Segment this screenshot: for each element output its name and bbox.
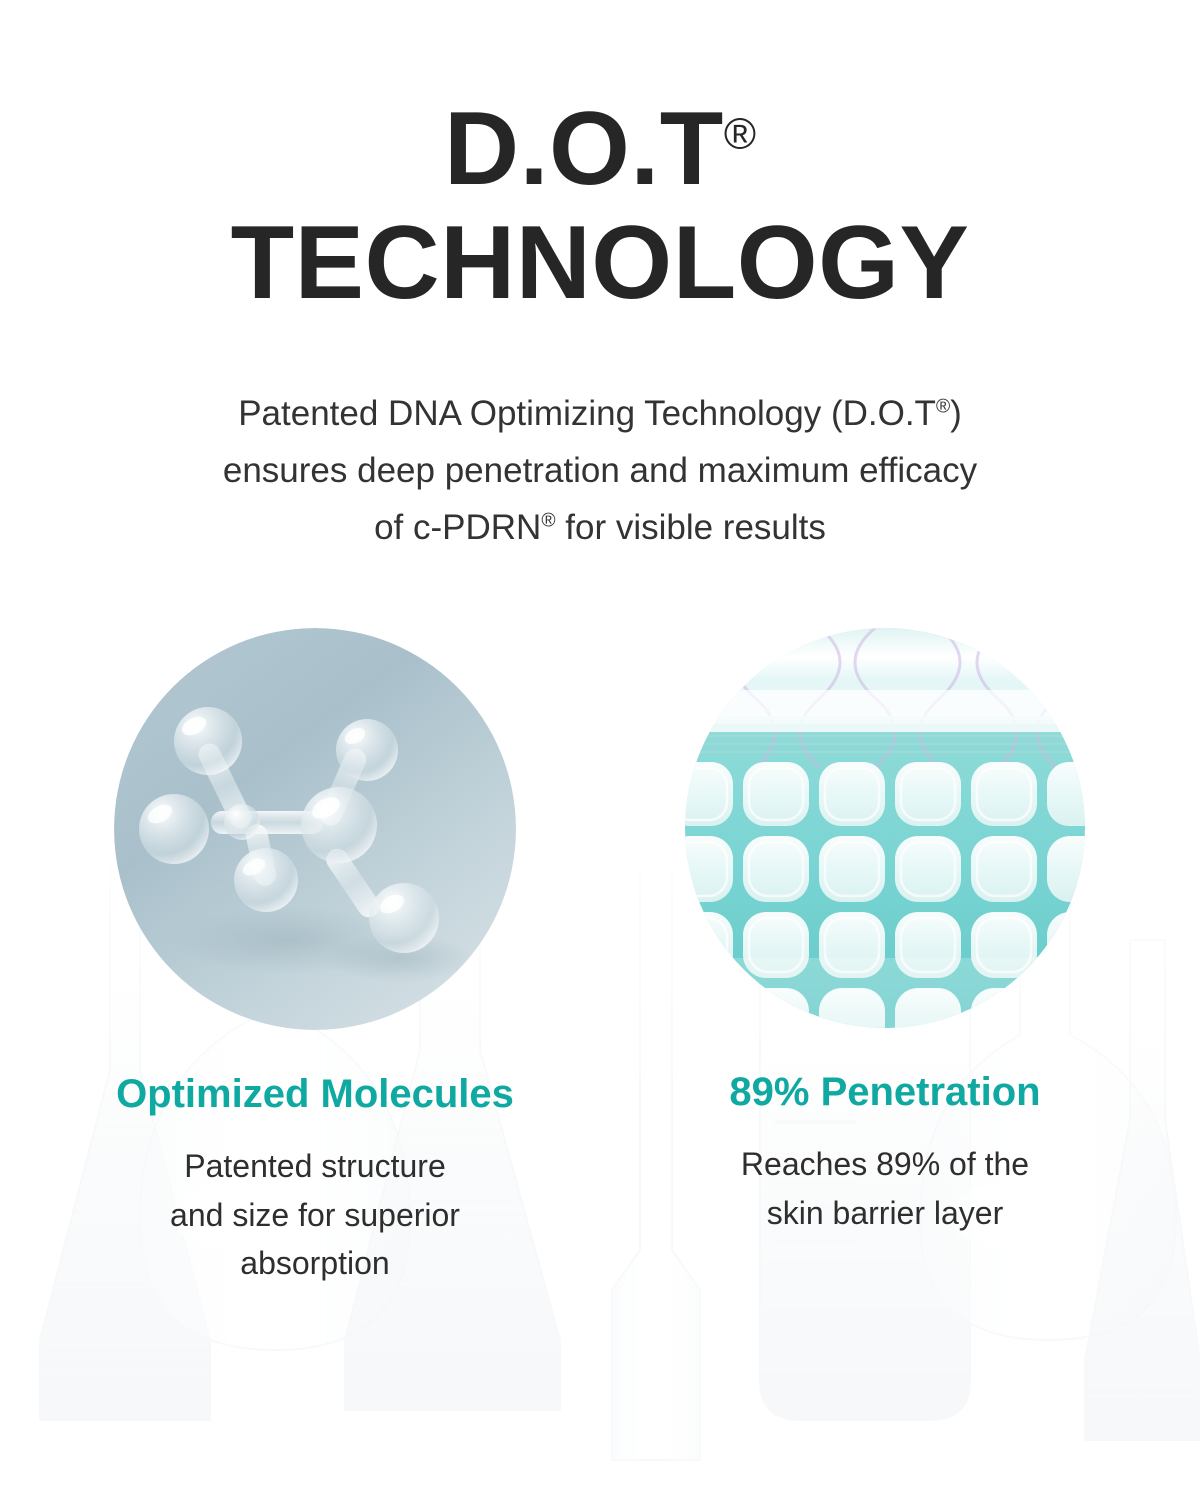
feature-title-89-percent-penetration: 89% Penetration	[729, 1070, 1040, 1114]
subtitle-line-3: of c-PDRN® for visible results	[0, 500, 1200, 557]
headline-dot-text: D.O.T	[444, 91, 724, 207]
feature-desc-line: and size for superior	[170, 1191, 460, 1240]
headline-line-1: D.O.T®	[0, 96, 1200, 202]
feature-description-optimized-molecules: Patented structure and size for superior…	[170, 1142, 460, 1288]
feature-title-optimized-molecules: Optimized Molecules	[116, 1072, 514, 1116]
subtitle: Patented DNA Optimizing Technology (D.O.…	[0, 386, 1200, 556]
feature-optimized-molecules: Optimized Molecules Patented structure a…	[30, 628, 600, 1288]
feature-list: Optimized Molecules Patented structure a…	[0, 628, 1200, 1288]
subtitle-line-2: ensures deep penetration and maximum eff…	[0, 443, 1200, 500]
registered-mark-icon: ®	[541, 510, 555, 531]
feature-desc-line: absorption	[170, 1239, 460, 1288]
subtitle-line-1: Patented DNA Optimizing Technology (D.O.…	[0, 386, 1200, 443]
feature-description-89-percent-penetration: Reaches 89% of the skin barrier layer	[741, 1140, 1029, 1237]
feature-desc-line: Patented structure	[170, 1142, 460, 1191]
subtitle-line-1-text-a: Patented DNA Optimizing Technology (D.O.…	[238, 394, 936, 433]
subtitle-line-3-text-a: of c-PDRN	[374, 508, 541, 547]
registered-mark-icon: ®	[724, 109, 756, 158]
subtitle-line-3-text-b: for visible results	[556, 508, 826, 547]
headline-line-2: TECHNOLOGY	[0, 210, 1200, 316]
registered-mark-icon: ®	[936, 397, 950, 418]
feature-desc-line: skin barrier layer	[741, 1189, 1029, 1238]
feature-desc-line: Reaches 89% of the	[741, 1140, 1029, 1189]
feature-89-percent-penetration: 89% Penetration Reaches 89% of the skin …	[600, 628, 1170, 1237]
page-title: D.O.T® TECHNOLOGY	[0, 0, 1200, 316]
skin-barrier-circle-image	[685, 628, 1085, 1028]
molecule-circle-image	[114, 628, 516, 1030]
dot-technology-infographic: D.O.T® TECHNOLOGY Patented DNA Optimizin…	[0, 0, 1200, 1500]
subtitle-line-1-text-b: )	[950, 394, 962, 433]
